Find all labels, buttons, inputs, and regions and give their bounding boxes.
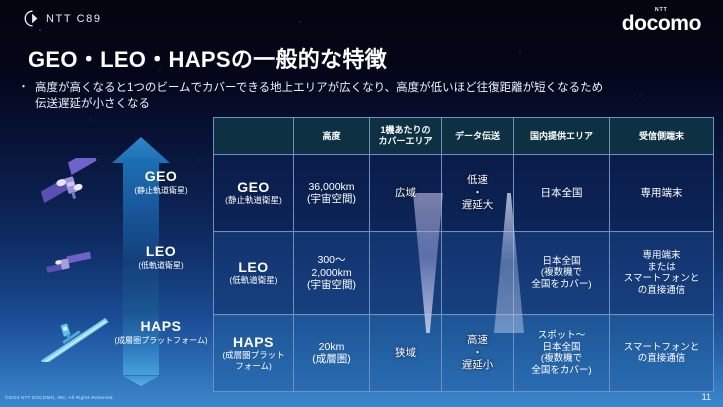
row-leo-terminal-4: の直接通信 (638, 285, 686, 296)
ntt-logo: NTT C89 (24, 10, 102, 27)
row-geo-area: 日本全国 (514, 155, 610, 232)
header-domestic-area: 国内提供エリア (514, 118, 610, 155)
row-geo-name: GEO (静止軌道衛星) (214, 155, 294, 232)
row-leo-area-2: (複数機で (541, 267, 582, 278)
row-geo-data-3: 遅延大 (443, 199, 512, 212)
row-geo-coverage: 広域 (370, 155, 442, 232)
row-leo-terminal-1: 専用端末 (642, 250, 680, 261)
bullet-text: 高度が高くなると1つのビームでカバーできる地上エリアが広くなり、高度が低いほど往… (35, 80, 603, 112)
row-haps-name: HAPS (成層圏プラット フォーム) (214, 315, 294, 392)
row-haps-coverage: 狭域 (370, 315, 442, 392)
row-leo-altitude-1: 300〜 (317, 254, 345, 266)
bullet-block: ・ 高度が高くなると1つのビームでカバーできる地上エリアが広くなり、高度が低いほ… (18, 80, 618, 112)
comparison-table: 高度 1機あたりの カバーエリア データ伝送 国内提供エリア 受信側端末 GEO… (213, 117, 714, 392)
table-header-row: 高度 1機あたりの カバーエリア データ伝送 国内提供エリア 受信側端末 (214, 118, 714, 155)
row-leo-area-1: 日本全国 (542, 256, 580, 267)
bullet-line-2: 伝送遅延が小さくなる (35, 98, 150, 110)
page-title: GEO・LEO・HAPSの一般的な特徴 (28, 42, 387, 74)
arrow-tail (123, 376, 159, 386)
row-leo-area-3: 全国をカバー) (531, 279, 591, 290)
footer-copyright: ©2024 NTT DOCOMO, INC. All Rights Reserv… (5, 395, 114, 400)
row-leo-terminal: 専用端末 または スマートフォンと の直接通信 (610, 232, 714, 315)
row-geo-data: 低速 ・ 遅延大 (442, 155, 514, 232)
header-coverage-line-2: カバーエリア (378, 136, 432, 146)
row-leo-altitude: 300〜 2,000km (宇宙空間) (294, 232, 370, 315)
geo-satellite-icon (36, 158, 106, 210)
row-leo-altitude-3: (宇宙空間) (307, 279, 356, 291)
row-haps-data: 高速 ・ 遅延小 (442, 315, 514, 392)
docomo-logo-word: docomo (622, 13, 701, 34)
ntt-logo-text: NTT C89 (46, 13, 102, 25)
row-haps-area-3: (複数機で (541, 353, 582, 364)
row-haps-data-3: 遅延小 (443, 359, 512, 372)
haps-aircraft-icon (32, 316, 116, 362)
header-altitude: 高度 (294, 118, 370, 155)
row-geo-terminal-1: 専用端末 (641, 187, 683, 199)
bullet-marker: ・ (18, 80, 29, 112)
bullet-line-1: 高度が高くなると1つのビームでカバーできる地上エリアが広くなり、高度が低いほど往… (35, 82, 603, 94)
row-geo-name-main: GEO (215, 181, 292, 194)
row-haps-terminal-2: の直接通信 (638, 353, 686, 364)
row-geo-area-1: 日本全国 (541, 187, 583, 199)
row-geo-data-2: ・ (443, 187, 512, 200)
row-leo-altitude-2: 2,000km (311, 267, 351, 279)
row-haps-altitude-2: (成層圏) (312, 353, 351, 365)
row-leo-terminal-2: または (647, 262, 676, 273)
row-geo-altitude-1: 36,000km (308, 181, 354, 193)
header-coverage-line-1: 1機あたりの (380, 125, 430, 135)
row-haps-altitude-1: 20km (319, 341, 345, 353)
row-haps-coverage-label: 狭域 (371, 347, 440, 360)
row-geo-name-sub: (静止軌道衛星) (215, 195, 292, 205)
row-leo-name: LEO (低軌道衛星) (214, 232, 294, 315)
row-haps-area-2: 日本全国 (542, 342, 580, 353)
table-row-leo: LEO (低軌道衛星) 300〜 2,000km (宇宙空間) 日本全国 (複数… (214, 232, 714, 315)
slide-canvas: NTT C89 NTT docomo GEO・LEO・HAPSの一般的な特徴 ・… (0, 0, 723, 407)
header-coverage-area: 1機あたりの カバーエリア (370, 118, 442, 155)
ntt-mark-icon (24, 10, 41, 27)
header-data-transmission: データ伝送 (442, 118, 514, 155)
row-leo-name-main: LEO (215, 261, 292, 274)
table-row-haps: HAPS (成層圏プラット フォーム) 20km (成層圏) 狭域 高速 ・ 遅… (214, 315, 714, 392)
row-haps-altitude: 20km (成層圏) (294, 315, 370, 392)
row-haps-terminal-1: スマートフォンと (624, 342, 700, 353)
footer-page-number: 11 (702, 392, 711, 402)
row-geo-data-1: 低速 (443, 174, 512, 187)
docomo-logo: NTT docomo (622, 7, 701, 34)
row-geo-terminal: 専用端末 (610, 155, 714, 232)
row-geo-altitude-2: (宇宙空間) (307, 193, 356, 205)
row-leo-area: 日本全国 (複数機で 全国をカバー) (514, 232, 610, 315)
table-row-geo: GEO (静止軌道衛星) 36,000km (宇宙空間) 広域 低速 ・ 遅延大… (214, 155, 714, 232)
row-haps-area-4: 全国をカバー) (531, 365, 591, 376)
row-haps-terminal: スマートフォンと の直接通信 (610, 315, 714, 392)
row-geo-coverage-label: 広域 (371, 187, 440, 200)
leo-satellite-icon (44, 248, 96, 280)
row-haps-area-1: スポット〜 (538, 330, 586, 341)
row-haps-name-sub-1: (成層圏プラット (215, 350, 292, 360)
row-haps-data-2: ・ (443, 347, 512, 360)
row-geo-altitude: 36,000km (宇宙空間) (294, 155, 370, 232)
row-haps-area: スポット〜 日本全国 (複数機で 全国をカバー) (514, 315, 610, 392)
row-haps-name-sub-2: フォーム) (215, 361, 292, 371)
row-leo-coverage (370, 232, 442, 315)
header-blank (214, 118, 294, 155)
row-leo-terminal-3: スマートフォンと (624, 273, 700, 284)
row-leo-data (442, 232, 514, 315)
row-haps-data-1: 高速 (443, 334, 512, 347)
row-leo-name-sub: (低軌道衛星) (215, 275, 292, 285)
header-receiving-terminal: 受信側端末 (610, 118, 714, 155)
row-haps-name-main: HAPS (215, 336, 292, 349)
